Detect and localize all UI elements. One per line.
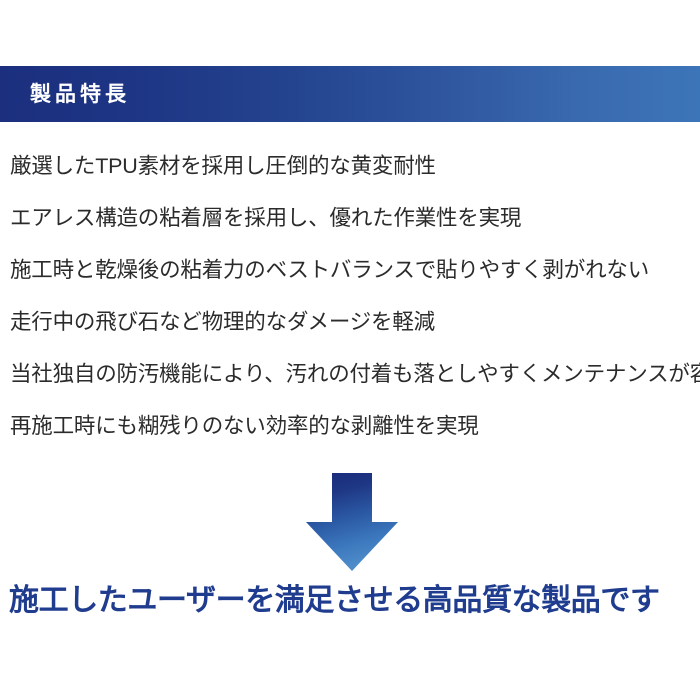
- feature-text: 当社独自の防汚機能により、汚れの付着も落としやすくメンテナンスが容易: [10, 362, 700, 386]
- list-item: 再施工時にも糊残りのない効率的な剥離性を実現: [0, 400, 700, 452]
- feature-text: 再施工時にも糊残りのない効率的な剥離性を実現: [10, 414, 479, 438]
- section-title: 製品特長: [30, 84, 130, 105]
- list-item: エアレス構造の粘着層を採用し、優れた作業性を実現: [0, 192, 700, 244]
- section-header-band: 製品特長: [0, 66, 700, 122]
- product-features-page: 製品特長 厳選したTPU素材を採用し圧倒的な黄変耐性 エアレス構造の粘着層を採用…: [0, 0, 700, 700]
- feature-text: 走行中の飛び石など物理的なダメージを軽減: [10, 310, 435, 334]
- list-item: 施工時と乾燥後の粘着力のベストバランスで貼りやすく剥がれない: [0, 244, 700, 296]
- list-item: 走行中の飛び石など物理的なダメージを軽減: [0, 296, 700, 348]
- feature-list: 厳選したTPU素材を採用し圧倒的な黄変耐性 エアレス構造の粘着層を採用し、優れた…: [0, 140, 700, 452]
- conclusion-headline: 施工したユーザーを満足させる高品質な製品です: [0, 578, 700, 624]
- arrow-down-icon: [304, 473, 400, 571]
- feature-text: 厳選したTPU素材を採用し圧倒的な黄変耐性: [10, 154, 436, 178]
- list-item: 厳選したTPU素材を採用し圧倒的な黄変耐性: [0, 140, 700, 192]
- list-item: 当社独自の防汚機能により、汚れの付着も落としやすくメンテナンスが容易: [0, 348, 700, 400]
- feature-text: エアレス構造の粘着層を採用し、優れた作業性を実現: [10, 206, 521, 230]
- feature-text: 施工時と乾燥後の粘着力のベストバランスで貼りやすく剥がれない: [10, 258, 649, 282]
